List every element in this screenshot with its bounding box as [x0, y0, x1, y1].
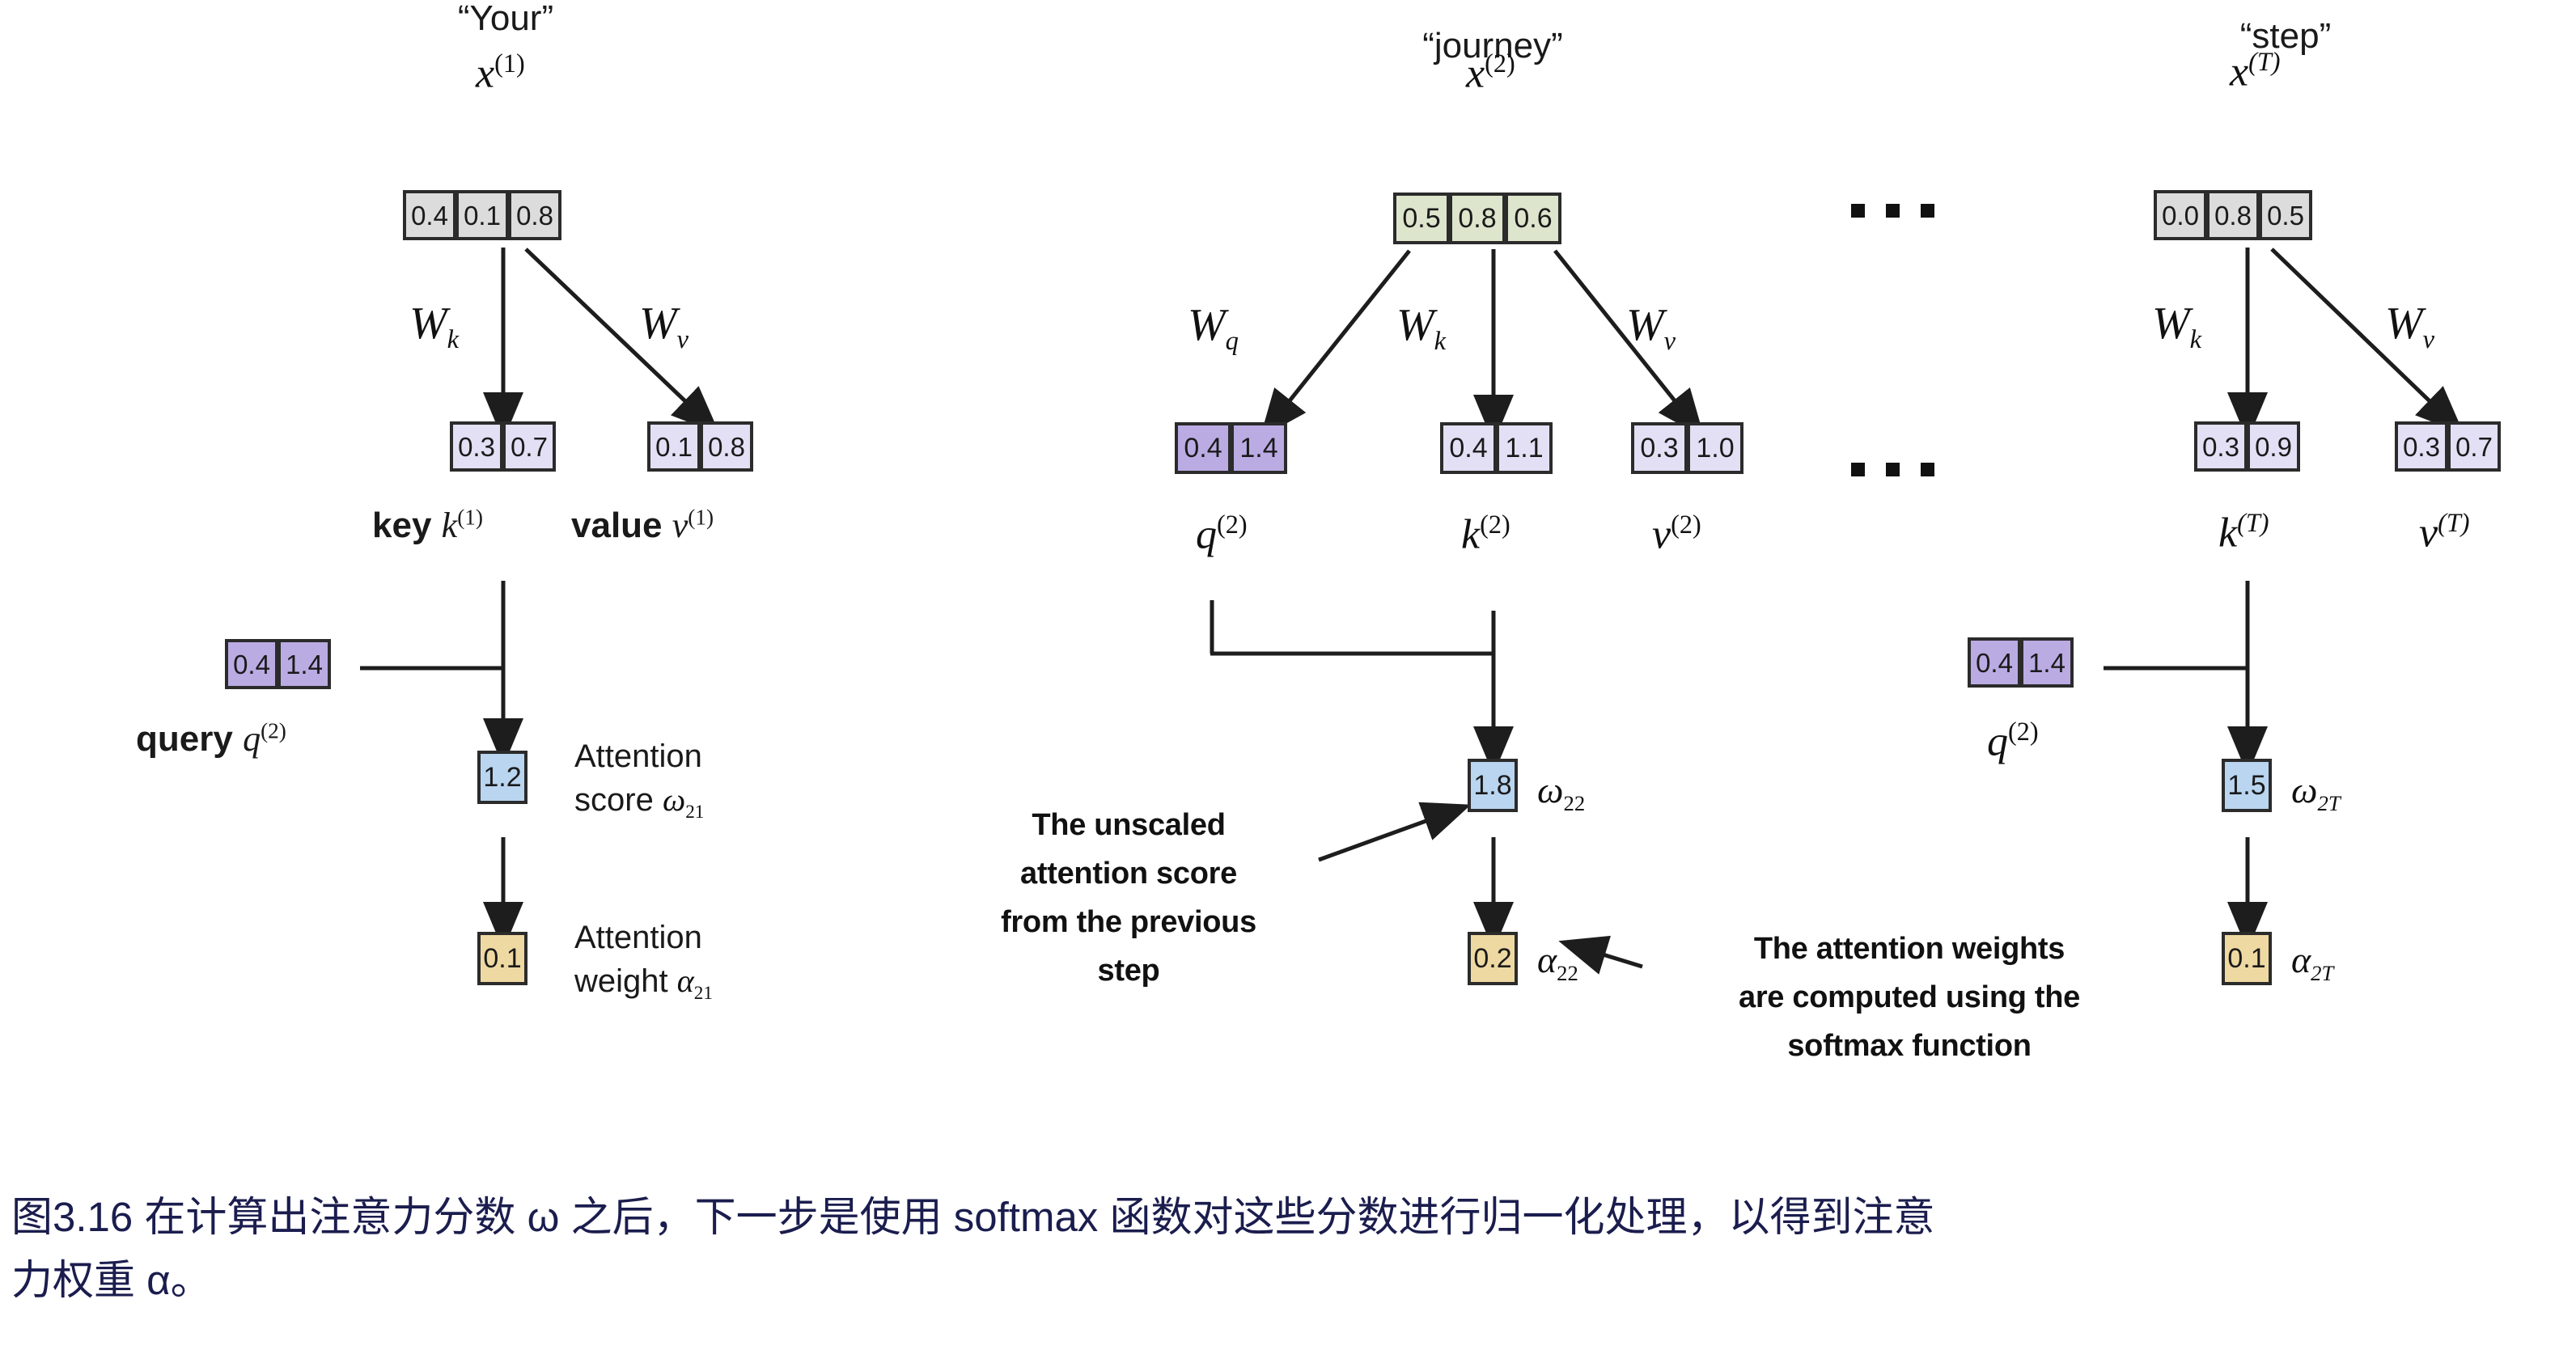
query-vector-name-q2-col1: query q(2)	[136, 718, 286, 760]
weight-matrix-label-wk-col1: Wk	[409, 298, 459, 355]
ellipsis-mid	[1851, 463, 1934, 476]
annotation-line: are computed using the	[1667, 973, 2152, 1022]
vector-cell: 0.4	[225, 639, 278, 689]
token-label-your: “Your”	[388, 0, 623, 39]
query-vector-name-q2-col2: q(2)	[1196, 510, 1248, 558]
key-vector-name-k2: k(2)	[1461, 510, 1510, 558]
vector-cell: 0.8	[2206, 190, 2260, 240]
key-vector-k2: 0.4 1.1	[1440, 422, 1552, 474]
key-vector-name-kT: k(T)	[2218, 508, 2269, 557]
key-vector-name-k1: key k(1)	[372, 505, 483, 546]
vector-cell: 0.3	[2194, 421, 2248, 472]
vector-cell: 1.4	[1231, 422, 1287, 474]
caption-line-1: 图3.16 在计算出注意力分数 ω 之后，下一步是使用 softmax 函数对这…	[11, 1186, 2560, 1249]
annotation-line: The attention weights	[1667, 925, 2152, 973]
vector-cell: 0.5	[2259, 190, 2312, 240]
input-vector-label-x1: x(1)	[476, 49, 525, 97]
attention-score-box-w22: 1.8	[1468, 759, 1517, 812]
vector-cell: 0.3	[450, 421, 503, 472]
value-vector-v2: 0.3 1.0	[1631, 422, 1743, 474]
ellipsis-dot	[1886, 463, 1900, 476]
weight-cell: 0.1	[477, 932, 527, 985]
weight-matrix-label-wk-col3: Wk	[2152, 298, 2201, 355]
value-vector-v1: 0.1 0.8	[647, 421, 752, 472]
score-cell: 1.8	[1468, 759, 1518, 812]
query-vector-q2-col1: 0.4 1.4	[225, 639, 330, 689]
input-vector-x2: 0.5 0.8 0.6	[1393, 193, 1561, 244]
caption-line-2: 力权重 α。	[11, 1249, 2560, 1312]
weight-matrix-label-wq-col2: Wq	[1188, 299, 1239, 357]
weight-matrix-label-wv-col3: Wv	[2385, 298, 2434, 355]
annotation-line: attention score	[943, 849, 1315, 898]
weight-matrix-label-wk-col2: Wk	[1396, 299, 1446, 357]
vector-cell: 0.7	[502, 421, 556, 472]
score-cell: 1.5	[2222, 759, 2272, 812]
attention-score-label-col1: Attention score ω21	[574, 734, 704, 825]
figure-canvas: “Your” x(1) 0.4 0.1 0.8 Wk Wv 0.3 0.7 0.…	[0, 0, 2576, 1367]
vector-cell: 1.4	[2020, 637, 2074, 688]
input-vector-xT: 0.0 0.8 0.5	[2154, 190, 2311, 240]
input-vector-x1: 0.4 0.1 0.8	[403, 190, 561, 240]
vector-cell: 0.6	[1505, 193, 1561, 244]
omega-2T-symbol: ω2T	[2291, 768, 2341, 816]
attention-score-box-w21: 1.2	[477, 751, 527, 804]
attention-score-box-w2T: 1.5	[2222, 759, 2271, 812]
vector-cell: 0.5	[1393, 193, 1450, 244]
vector-cell: 1.1	[1496, 422, 1553, 474]
attention-weight-label-col1: Attention weight α21	[574, 916, 713, 1006]
vector-cell: 0.1	[455, 190, 509, 240]
ellipsis-top	[1851, 204, 1934, 218]
vector-cell: 0.8	[508, 190, 561, 240]
vector-cell: 0.4	[1968, 637, 2021, 688]
ellipsis-dot	[1886, 204, 1900, 218]
value-vector-name-v1: value v(1)	[571, 505, 714, 546]
key-vector-kT: 0.3 0.9	[2194, 421, 2299, 472]
ellipsis-dot	[1851, 463, 1865, 476]
vector-cell: 0.4	[403, 190, 456, 240]
attention-weight-box-a22: 0.2	[1468, 932, 1517, 985]
query-vector-q2-col3: 0.4 1.4	[1968, 637, 2073, 688]
annotation-line: step	[943, 946, 1315, 995]
weight-cell: 0.1	[2222, 932, 2272, 985]
vector-cell: 0.1	[647, 421, 701, 472]
vector-cell: 1.0	[1687, 422, 1743, 474]
weight-matrix-label-wv-col2: Wv	[1626, 299, 1676, 357]
annotation-unscaled-score: The unscaled attention score from the pr…	[943, 801, 1315, 995]
vector-cell: 0.4	[1440, 422, 1497, 474]
alpha-22-symbol: α22	[1537, 938, 1578, 986]
key-vector-k1: 0.3 0.7	[450, 421, 555, 472]
value-vector-name-vT: v(T)	[2419, 508, 2470, 557]
vector-cell: 0.7	[2447, 421, 2501, 472]
annotation-line: softmax function	[1667, 1022, 2152, 1070]
weight-cell: 0.2	[1468, 932, 1518, 985]
vector-cell: 0.0	[2154, 190, 2207, 240]
omega-22-symbol: ω22	[1537, 768, 1585, 816]
attention-weight-box-a21: 0.1	[477, 932, 527, 985]
vector-cell: 1.4	[278, 639, 331, 689]
vector-cell: 0.9	[2247, 421, 2300, 472]
weight-matrix-label-wv-col1: Wv	[639, 298, 688, 355]
ellipsis-dot	[1921, 204, 1934, 218]
query-vector-name-q2-col3: q(2)	[1987, 717, 2039, 765]
annotation-line: from the previous	[943, 898, 1315, 946]
annotation-line: The unscaled	[943, 801, 1315, 849]
ellipsis-dot	[1921, 463, 1934, 476]
figure-caption: 图3.16 在计算出注意力分数 ω 之后，下一步是使用 softmax 函数对这…	[11, 1186, 2560, 1311]
vector-cell: 0.3	[1631, 422, 1688, 474]
annotation-softmax-note: The attention weights are computed using…	[1667, 925, 2152, 1070]
token-label-step: “step”	[2184, 16, 2387, 57]
vector-cell: 0.4	[1175, 422, 1231, 474]
value-vector-vT: 0.3 0.7	[2395, 421, 2500, 472]
vector-cell: 0.8	[1449, 193, 1506, 244]
score-cell: 1.2	[477, 751, 527, 804]
value-vector-name-v2: v(2)	[1652, 510, 1701, 558]
input-vector-label-xT: x(T)	[2230, 47, 2281, 95]
alpha-2T-symbol: α2T	[2291, 938, 2333, 986]
ellipsis-dot	[1851, 204, 1865, 218]
input-vector-label-x2: x(2)	[1466, 49, 1515, 97]
query-vector-q2-col2: 0.4 1.4	[1175, 422, 1286, 474]
attention-weight-box-a2T: 0.1	[2222, 932, 2271, 985]
vector-cell: 0.3	[2395, 421, 2448, 472]
vector-cell: 0.8	[700, 421, 753, 472]
